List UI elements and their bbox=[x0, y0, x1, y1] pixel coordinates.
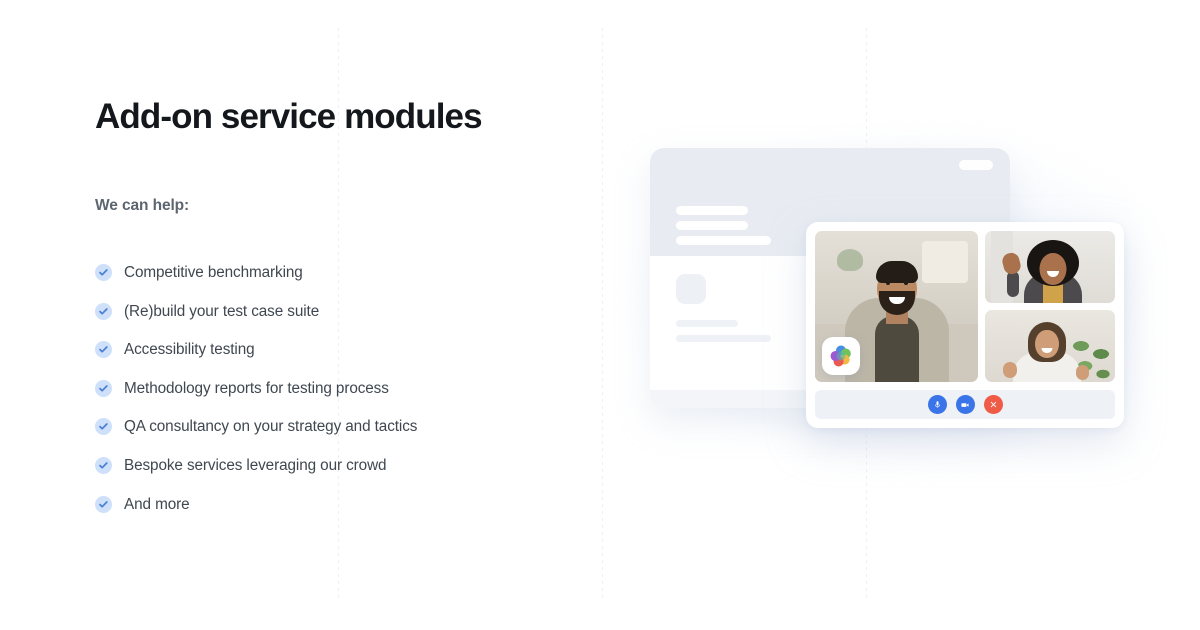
room-plant bbox=[837, 249, 863, 271]
list-item: Competitive benchmarking bbox=[95, 253, 565, 292]
end-call-button[interactable] bbox=[984, 395, 1003, 414]
camera-button[interactable] bbox=[956, 395, 975, 414]
section-subtitle: We can help: bbox=[95, 197, 565, 215]
placeholder-bar bbox=[676, 206, 748, 215]
participant-side-column bbox=[985, 231, 1115, 382]
list-item-label: Methodology reports for testing process bbox=[124, 381, 389, 396]
check-circle-icon bbox=[95, 457, 112, 474]
participant-shirt bbox=[875, 316, 919, 382]
list-item: Accessibility testing bbox=[95, 330, 565, 369]
placeholder-line bbox=[676, 335, 771, 342]
participant-tile-top-right[interactable] bbox=[985, 231, 1115, 303]
list-item: Methodology reports for testing process bbox=[95, 369, 565, 408]
placeholder-pill bbox=[959, 160, 993, 170]
list-item: Bespoke services leveraging our crowd bbox=[95, 446, 565, 485]
check-circle-icon bbox=[95, 341, 112, 358]
check-circle-icon bbox=[95, 264, 112, 281]
check-circle-icon bbox=[95, 496, 112, 513]
list-item-label: Accessibility testing bbox=[124, 342, 255, 357]
check-circle-icon bbox=[95, 380, 112, 397]
participant-head bbox=[1035, 330, 1059, 358]
participant-head bbox=[1039, 253, 1066, 285]
placeholder-line bbox=[676, 320, 738, 327]
check-circle-icon bbox=[95, 418, 112, 435]
room-window bbox=[922, 241, 968, 283]
list-item-label: (Re)build your test case suite bbox=[124, 304, 319, 319]
page-title: Add-on service modules bbox=[95, 96, 565, 137]
placeholder-thumbnail bbox=[676, 274, 706, 304]
participant-hand bbox=[1076, 365, 1089, 380]
participant-tile-main[interactable] bbox=[815, 231, 978, 382]
list-item-label: QA consultancy on your strategy and tact… bbox=[124, 419, 417, 434]
content-column: Add-on service modules We can help: Comp… bbox=[95, 96, 565, 523]
participant-arm bbox=[1007, 271, 1019, 297]
page-root: Add-on service modules We can help: Comp… bbox=[0, 0, 1200, 630]
participant-grid bbox=[815, 231, 1115, 382]
list-item: QA consultancy on your strategy and tact… bbox=[95, 408, 565, 447]
list-item-label: Bespoke services leveraging our crowd bbox=[124, 458, 386, 473]
list-item-label: And more bbox=[124, 497, 190, 512]
brand-logo-badge bbox=[822, 337, 860, 375]
microphone-button[interactable] bbox=[928, 395, 947, 414]
video-call-window bbox=[806, 222, 1124, 428]
participant-hair bbox=[876, 261, 918, 283]
video-call-illustration bbox=[620, 120, 1150, 480]
list-item: And more bbox=[95, 485, 565, 524]
list-item: (Re)build your test case suite bbox=[95, 292, 565, 331]
placeholder-bar bbox=[676, 236, 771, 245]
feature-list: Competitive benchmarking (Re)build your … bbox=[95, 253, 565, 523]
list-item-label: Competitive benchmarking bbox=[124, 265, 303, 280]
check-circle-icon bbox=[95, 303, 112, 320]
call-control-bar bbox=[815, 390, 1115, 419]
participant-tile-bottom-right[interactable] bbox=[985, 310, 1115, 382]
placeholder-bar bbox=[676, 221, 748, 230]
participant-hand bbox=[1003, 362, 1017, 378]
